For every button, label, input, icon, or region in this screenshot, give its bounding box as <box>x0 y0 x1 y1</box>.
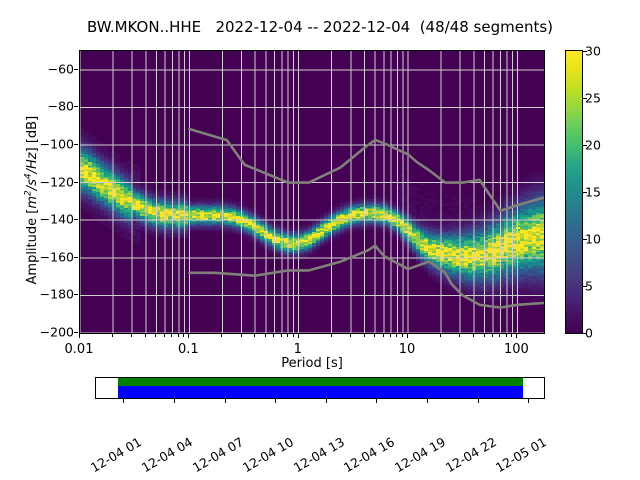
timeline-tick-label: 12-05 01 <box>493 434 549 475</box>
x-tick-mark-minor <box>402 334 403 337</box>
timeline-tick-mark <box>376 399 377 403</box>
timeline-tick-mark <box>478 399 479 403</box>
timeline-tick-mark <box>326 399 327 403</box>
timeline-tick-label: 12-04 07 <box>189 434 245 475</box>
x-tick-mark-minor <box>383 334 384 337</box>
colorbar-tick-mark <box>583 51 587 52</box>
y-tick-mark <box>74 294 78 295</box>
x-tick-mark-major <box>516 334 517 338</box>
colorbar-tick-mark <box>583 333 587 334</box>
x-tick-mark-minor <box>145 334 146 337</box>
colorbar-tick-label: 25 <box>585 91 601 106</box>
x-tick-label: 0.1 <box>178 342 199 357</box>
y-tick-mark <box>74 144 78 145</box>
x-tick-mark-minor <box>350 334 351 337</box>
y-tick-label: −200 <box>28 325 74 340</box>
colorbar-tick-mark <box>583 286 587 287</box>
x-axis-label: Period [s] <box>79 356 545 371</box>
x-tick-mark-minor <box>287 334 288 337</box>
colorbar-tick-label: 15 <box>585 185 601 200</box>
x-tick-mark-minor <box>440 334 441 337</box>
x-tick-mark-minor <box>374 334 375 337</box>
x-tick-mark-major <box>79 334 80 338</box>
y-tick-mark <box>74 69 78 70</box>
y-tick-mark <box>74 332 78 333</box>
colorbar-tick-label: 20 <box>585 138 601 153</box>
y-tick-label: −180 <box>28 287 74 302</box>
timeline-tick-mark <box>275 399 276 403</box>
x-tick-mark-minor <box>396 334 397 337</box>
timeline-band-blue <box>118 386 523 398</box>
x-tick-mark-minor <box>273 334 274 337</box>
x-tick-mark-minor <box>112 334 113 337</box>
timeline-tick-label: 12-04 19 <box>392 434 448 475</box>
ppsd-plot-area <box>79 50 545 334</box>
timeline-tick-label: 12-04 01 <box>88 434 144 475</box>
timeline-tick-label: 12-04 13 <box>291 434 347 475</box>
x-tick-mark-minor <box>511 334 512 337</box>
x-tick-mark-minor <box>506 334 507 337</box>
y-tick-label: −140 <box>28 212 74 227</box>
colorbar-tick-mark <box>583 192 587 193</box>
y-tick-mark <box>74 219 78 220</box>
x-tick-mark-major <box>298 334 299 338</box>
timeline-tick-label: 12-04 10 <box>240 434 296 475</box>
colorbar-tick-label: 30 <box>585 44 601 59</box>
x-tick-mark-minor <box>178 334 179 337</box>
colorbar-tick-mark <box>583 239 587 240</box>
x-tick-label: 100 <box>504 342 529 357</box>
timeline-tick-mark <box>427 399 428 403</box>
x-tick-mark-minor <box>281 334 282 337</box>
figure-title: BW.MKON..HHE 2022-12-04 -- 2022-12-04 (4… <box>0 18 640 36</box>
timeline-tick-label: 12-04 22 <box>442 434 498 475</box>
y-tick-mark <box>74 182 78 183</box>
y-tick-label: −160 <box>28 249 74 264</box>
x-tick-mark-minor <box>221 334 222 337</box>
x-tick-mark-minor <box>331 334 332 337</box>
timeline-band-green <box>118 378 523 386</box>
colorbar-tick-label: 10 <box>585 232 601 247</box>
ppsd-figure: BW.MKON..HHE 2022-12-04 -- 2022-12-04 (4… <box>0 0 640 480</box>
colorbar-tick-mark <box>583 145 587 146</box>
x-tick-mark-minor <box>390 334 391 337</box>
y-tick-label: −60 <box>28 61 74 76</box>
timeline-tick-mark <box>225 399 226 403</box>
y-tick-mark <box>74 106 78 107</box>
x-tick-mark-minor <box>241 334 242 337</box>
x-tick-mark-minor <box>183 334 184 337</box>
x-tick-mark-minor <box>473 334 474 337</box>
y-tick-label: −120 <box>28 174 74 189</box>
x-tick-mark-minor <box>265 334 266 337</box>
y-tick-label: −80 <box>28 99 74 114</box>
timeline-tick-mark <box>528 399 529 403</box>
x-tick-mark-major <box>188 334 189 338</box>
x-tick-mark-minor <box>131 334 132 337</box>
timeline-tick-label: 12-04 04 <box>139 434 195 475</box>
x-tick-mark-minor <box>171 334 172 337</box>
x-tick-mark-minor <box>499 334 500 337</box>
x-tick-mark-minor <box>364 334 365 337</box>
timeline-tick-mark <box>123 399 124 403</box>
data-coverage-timeline <box>95 377 545 399</box>
x-tick-mark-minor <box>155 334 156 337</box>
y-axis-ticks: −60−80−100−120−140−160−180−200 <box>22 50 74 334</box>
x-tick-label: 10 <box>399 342 416 357</box>
x-tick-mark-minor <box>459 334 460 337</box>
x-tick-mark-minor <box>254 334 255 337</box>
x-tick-mark-minor <box>484 334 485 337</box>
ppsd-density-canvas <box>80 51 544 333</box>
x-tick-mark-major <box>407 334 408 338</box>
y-tick-mark <box>74 257 78 258</box>
timeline-tick-label: 12-04 16 <box>341 434 397 475</box>
x-tick-mark-minor <box>293 334 294 337</box>
y-tick-label: −100 <box>28 137 74 152</box>
colorbar-label-wrap: [%] <box>600 165 640 215</box>
x-tick-label: 1 <box>294 342 302 357</box>
x-tick-mark-minor <box>164 334 165 337</box>
timeline-ticks: 12-04 0112-04 0412-04 0712-04 1012-04 13… <box>95 399 545 459</box>
x-tick-label: 0.01 <box>65 342 94 357</box>
colorbar-tick-mark <box>583 98 587 99</box>
x-tick-mark-minor <box>492 334 493 337</box>
timeline-tick-mark <box>174 399 175 403</box>
